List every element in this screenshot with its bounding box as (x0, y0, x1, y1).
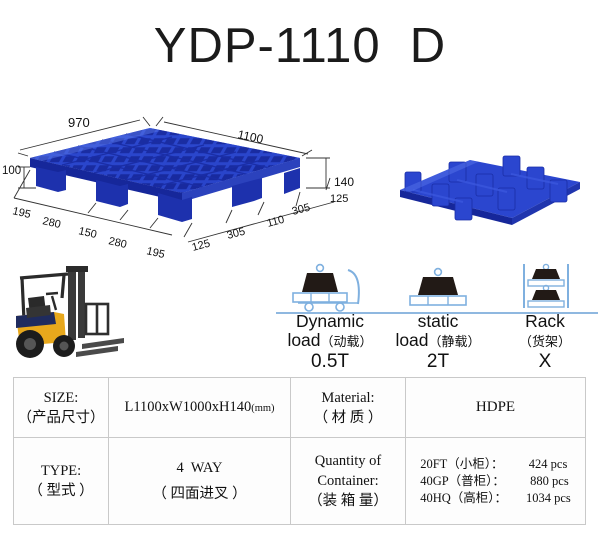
svg-text:150: 150 (77, 225, 98, 241)
svg-text:125: 125 (330, 193, 348, 205)
static-load-label-1: static (418, 311, 459, 331)
rack-load-value: X (492, 351, 598, 372)
page-title: YDP-1110 D (0, 18, 600, 74)
cell-quantity-key: Quantity of Container: （装 箱 量） (291, 438, 406, 525)
quantity-row-unit: pcs (551, 491, 571, 505)
pallet-bottom-view (400, 156, 580, 225)
quantity-row-label: 40HQ（高柜）： (420, 491, 507, 505)
svg-text:280: 280 (107, 235, 128, 251)
svg-text:1100: 1100 (236, 127, 264, 146)
cell-material-key: Material: （ 材 质 ） (291, 378, 406, 438)
svg-text:110: 110 (266, 214, 286, 230)
size-value-main: L1100xW1000xH140 (124, 399, 251, 415)
dynamic-load-icon (276, 262, 384, 312)
svg-text:100: 100 (2, 165, 21, 177)
spec-table: SIZE: （产品尺寸） L1100xW1000xH140(mm) Materi… (13, 377, 586, 525)
dynamic-load-label-2: load (287, 330, 320, 350)
dynamic-load-label-1: Dynamic (296, 311, 364, 331)
quantity-row-number: 1034 (507, 490, 551, 507)
static-load-value: 2T (386, 351, 490, 372)
static-load-label-cn: （静载） (429, 334, 481, 349)
quantity-row-number: 424 (504, 456, 548, 473)
svg-text:140: 140 (334, 175, 354, 189)
size-value-unit: (mm) (251, 403, 274, 414)
cell-quantity-value: 20FT（小柜）：424 pcs40GP（普柜）：880 pcs40HQ（高柜）… (406, 438, 586, 525)
quantity-row: 40GP（普柜）：880 pcs (420, 473, 571, 490)
quantity-list: 20FT（小柜）：424 pcs40GP（普柜）：880 pcs40HQ（高柜）… (420, 456, 571, 507)
cell-type-key: TYPE: （ 型式 ） (14, 438, 109, 525)
quantity-row: 40HQ（高柜）：1034 pcs (420, 490, 571, 507)
svg-text:280: 280 (41, 215, 62, 231)
svg-text:195: 195 (11, 205, 32, 221)
dynamic-load-block: Dynamic load（动载） 0.5T (276, 262, 384, 372)
dynamic-load-label-cn: （动载） (321, 334, 373, 349)
rack-load-block: Rack （货架） X (492, 262, 598, 372)
static-load-icon (386, 262, 490, 312)
quantity-row-number: 880 (505, 473, 549, 490)
forklift-image (6, 258, 138, 370)
svg-text:970: 970 (68, 115, 90, 130)
rack-load-label-cn: （货架） (519, 334, 571, 349)
rack-load-label-1: Rack (525, 311, 565, 331)
rack-load-icon (492, 262, 598, 312)
static-load-label-2: load (395, 330, 428, 350)
quantity-row-unit: pcs (548, 457, 568, 471)
quantity-row-label: 20FT（小柜）： (420, 457, 503, 471)
dynamic-load-value: 0.5T (276, 351, 384, 372)
table-row-size: SIZE: （产品尺寸） L1100xW1000xH140(mm) Materi… (14, 378, 586, 438)
table-row-type: TYPE: （ 型式 ） 4 WAY （ 四面进叉 ） Quantity of … (14, 438, 586, 525)
quantity-row: 20FT（小柜）：424 pcs (420, 456, 571, 473)
load-capacity-row: Dynamic load（动载） 0.5T static load（静载） 2T (276, 262, 598, 374)
cell-type-value: 4 WAY （ 四面进叉 ） (109, 438, 291, 525)
cell-size-value: L1100xW1000xH140(mm) (109, 378, 291, 438)
pallet-diagram: 970 1100 100 140 195 280 150 280 195 125… (0, 110, 600, 275)
svg-text:305: 305 (291, 202, 312, 218)
svg-text:195: 195 (145, 245, 166, 261)
svg-text:305: 305 (226, 226, 247, 242)
quantity-row-label: 40GP（普柜）： (420, 474, 505, 488)
static-load-block: static load（静载） 2T (386, 262, 490, 372)
quantity-row-unit: pcs (549, 474, 569, 488)
cell-size-key: SIZE: （产品尺寸） (14, 378, 109, 438)
cell-material-value: HDPE (406, 378, 586, 438)
